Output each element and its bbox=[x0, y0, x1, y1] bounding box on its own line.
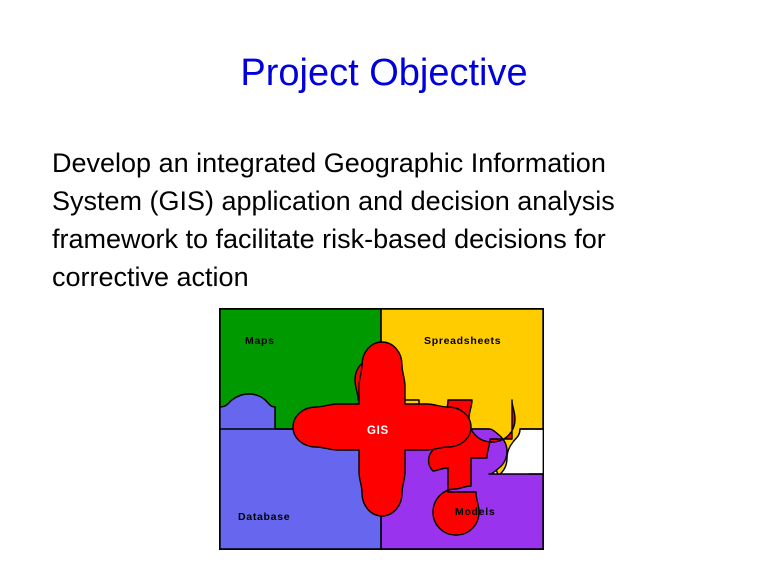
body-line-4: corrective action bbox=[52, 258, 712, 296]
body-text-block: Develop an integrated Geographic Informa… bbox=[52, 144, 712, 296]
puzzle-label-database: Database bbox=[238, 511, 290, 523]
body-line-2: System (GIS) application and decision an… bbox=[52, 182, 712, 220]
puzzle-label-models: Models bbox=[455, 506, 495, 518]
puzzle-label-maps: Maps bbox=[245, 335, 275, 347]
slide-canvas: Project Objective Develop an integrated … bbox=[0, 0, 768, 576]
body-line-3: framework to facilitate risk-based decis… bbox=[52, 220, 712, 258]
puzzle-svg: Maps Spreadsheets Database Models GIS bbox=[219, 308, 544, 550]
puzzle-label-spreadsheets: Spreadsheets bbox=[424, 335, 501, 347]
body-line-1: Develop an integrated Geographic Informa… bbox=[52, 144, 712, 182]
gis-puzzle-diagram: Maps Spreadsheets Database Models GIS bbox=[219, 308, 544, 550]
puzzle-label-gis: GIS bbox=[367, 425, 389, 437]
page-title: Project Objective bbox=[0, 50, 768, 96]
